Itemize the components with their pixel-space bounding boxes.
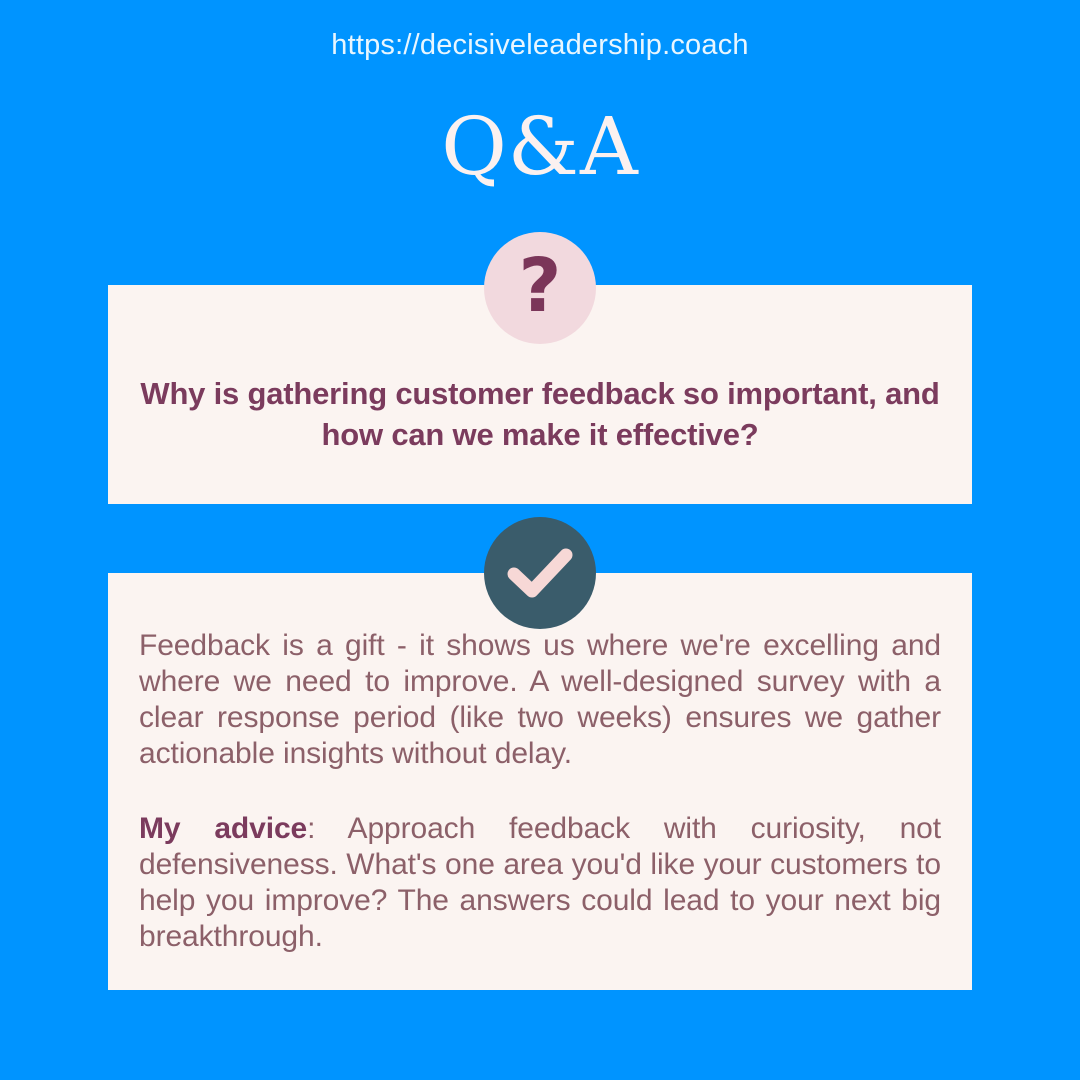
answer-paragraph: Feedback is a gift - it shows us where w…	[139, 628, 941, 772]
answer-body: Feedback is a gift - it shows us where w…	[139, 628, 941, 955]
page-title: Q&A	[0, 107, 1080, 187]
question-mark-badge: ?	[484, 232, 596, 344]
question-mark-icon: ?	[519, 249, 562, 323]
checkmark-badge	[484, 517, 596, 629]
question-text: Why is gathering customer feedback so im…	[128, 373, 952, 455]
answer-paragraph: My advice: Approach feedback with curios…	[139, 811, 941, 955]
qa-poster: https://decisiveleadership.coach Q&A ? W…	[0, 0, 1080, 1080]
answer-paragraph-lead: My advice	[139, 812, 307, 845]
answer-paragraph-text: Feedback is a gift - it shows us where w…	[139, 629, 941, 770]
site-url: https://decisiveleadership.coach	[0, 29, 1080, 62]
checkmark-icon	[507, 547, 573, 599]
